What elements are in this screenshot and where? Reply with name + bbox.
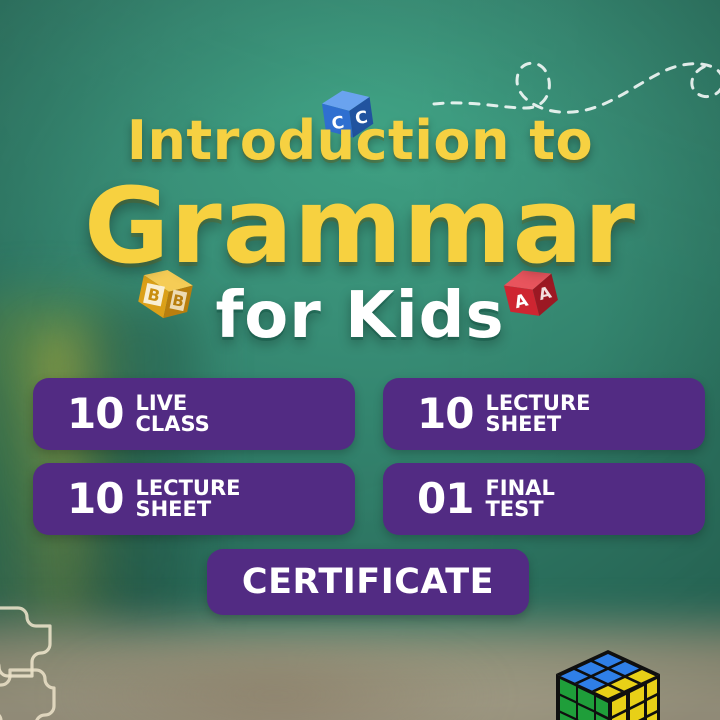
title-line-grammar: Grammar [0, 174, 720, 278]
feature-label-line1: LECTURE [135, 478, 240, 499]
title-line-introduction: Introduction to [0, 114, 720, 168]
certificate-pill[interactable]: CERTIFICATE [207, 549, 529, 615]
feature-label-line1: FINAL [485, 478, 554, 499]
feature-label-line1: LIVE [135, 393, 209, 414]
feature-label: LECTURE SHEET [485, 393, 590, 434]
feature-pill-final-test[interactable]: 01 FINAL TEST [383, 463, 705, 535]
feature-pill-lecture-sheet-top[interactable]: 10 LECTURE SHEET [383, 378, 705, 450]
feature-pill-live-class[interactable]: 10 LIVE CLASS [33, 378, 355, 450]
feature-label: LIVE CLASS [135, 393, 209, 434]
feature-count: 10 [67, 393, 123, 435]
feature-label-line2: TEST [485, 499, 554, 520]
feature-label: LECTURE SHEET [135, 478, 240, 519]
feature-label: FINAL TEST [485, 478, 554, 519]
feature-label-line1: LECTURE [485, 393, 590, 414]
feature-count: 10 [417, 393, 473, 435]
poster-title: Introduction to Grammar for Kids [0, 114, 720, 348]
feature-label-line2: SHEET [485, 414, 590, 435]
poster-canvas: C C B B A A [0, 0, 720, 720]
feature-label-line2: SHEET [135, 499, 240, 520]
feature-label-line2: CLASS [135, 414, 209, 435]
title-line-for-kids: for Kids [0, 284, 720, 348]
feature-pill-lecture-sheet-bottom[interactable]: 10 LECTURE SHEET [33, 463, 355, 535]
rubiks-cube-icon [552, 648, 664, 720]
certificate-label: CERTIFICATE [242, 565, 494, 600]
feature-count: 01 [417, 478, 473, 520]
feature-count: 10 [67, 478, 123, 520]
feature-pill-grid: 10 LIVE CLASS 10 LECTURE SHEET 10 LECTUR… [33, 378, 705, 535]
